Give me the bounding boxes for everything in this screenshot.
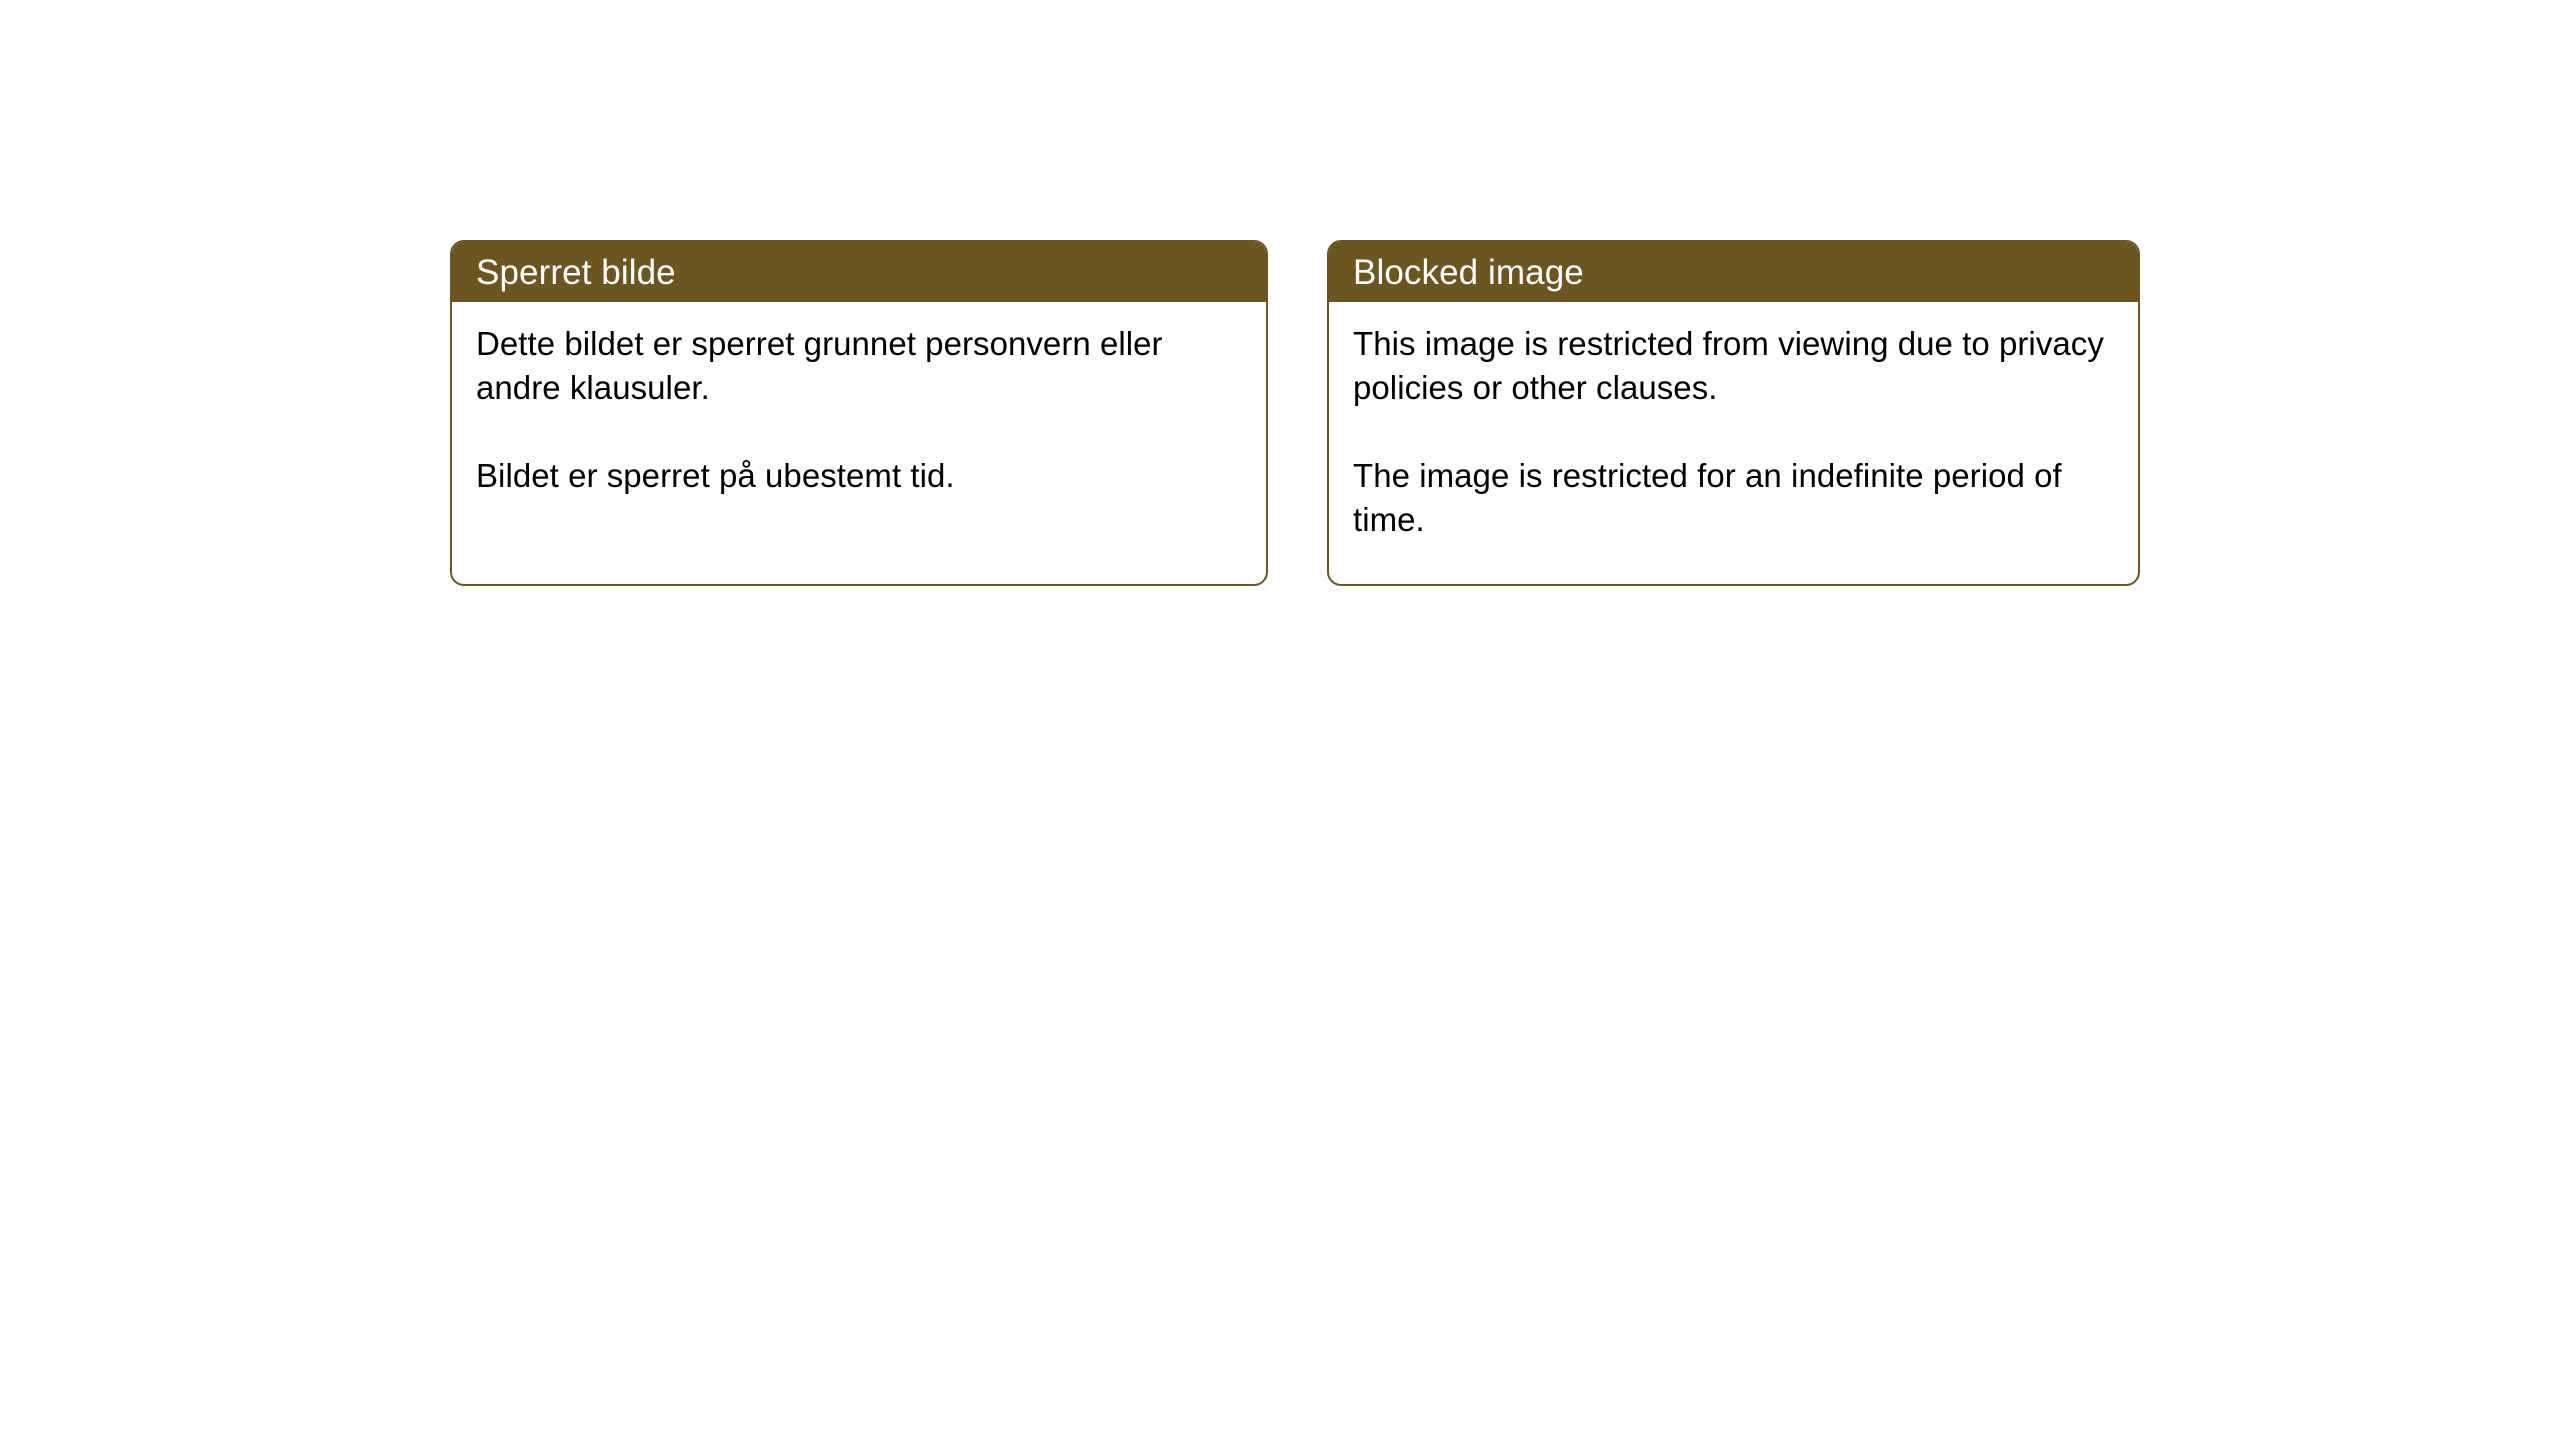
card-header-no: Sperret bilde (452, 242, 1266, 302)
card-title-no: Sperret bilde (476, 255, 676, 290)
card-paragraph-reason-en: This image is restricted from viewing du… (1353, 322, 2116, 410)
page-root: Sperret bilde Dette bildet er sperret gr… (0, 0, 2560, 1440)
card-paragraph-reason-no: Dette bildet er sperret grunnet personve… (476, 322, 1244, 410)
card-paragraph-duration-no: Bildet er sperret på ubestemt tid. (476, 454, 1244, 498)
blocked-image-notice-card-en: Blocked image This image is restricted f… (1327, 240, 2140, 586)
card-body-en: This image is restricted from viewing du… (1329, 302, 2138, 542)
card-body-no: Dette bildet er sperret grunnet personve… (452, 302, 1266, 498)
card-title-en: Blocked image (1353, 255, 1584, 290)
blocked-image-notice-card-no: Sperret bilde Dette bildet er sperret gr… (450, 240, 1268, 586)
card-header-en: Blocked image (1329, 242, 2138, 302)
card-paragraph-duration-en: The image is restricted for an indefinit… (1353, 454, 2116, 542)
